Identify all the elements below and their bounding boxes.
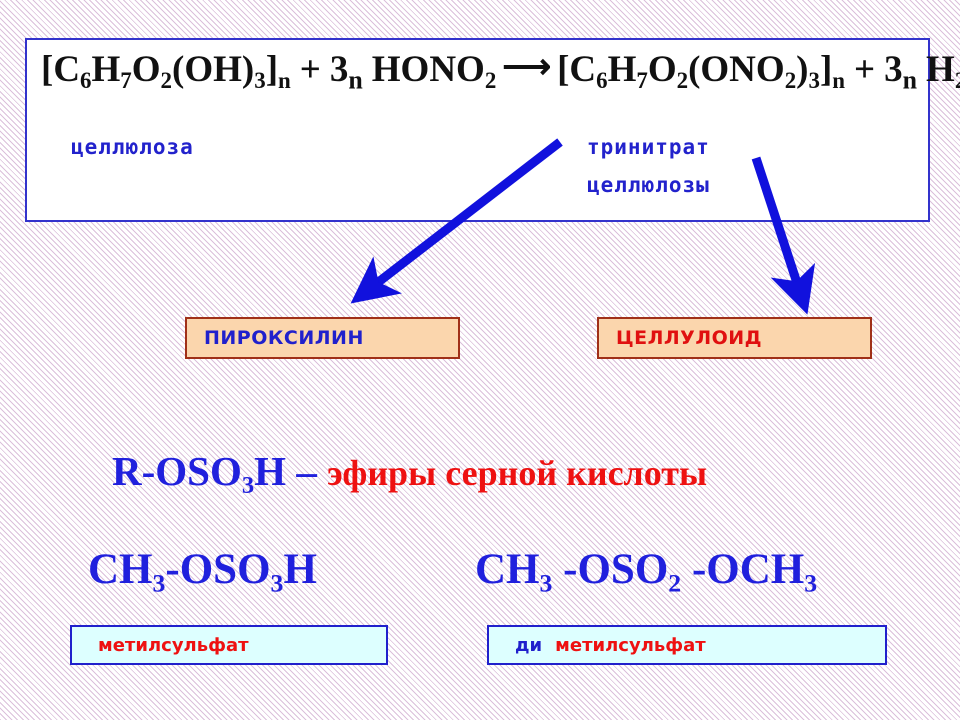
plus-sign-2: + — [854, 49, 875, 90]
product-trinitrate-formula: [C6H7O2(ONO2)3]n — [557, 49, 845, 90]
name-box-methyl-sulfate: метилсульфат — [70, 625, 388, 665]
name-box-dimethyl-sulfate: диметилсульфат — [487, 625, 887, 665]
formula-dimethyl-sulfate: CH3 -OSO2 -OCH3 — [475, 545, 817, 598]
reaction-arrow-icon: ⟶ — [496, 47, 557, 87]
equation-panel: [C6H7O2(OH)3]n+3nHONO2⟶[C6H7O2(ONO2)3]n+… — [25, 38, 930, 222]
formula-methyl-sulfate: CH3-OSO3H — [88, 545, 317, 598]
label-trinitrate-line1: тринитрат — [587, 135, 710, 159]
reactant-cellulose-formula: [C6H7O2(OH)3]n — [41, 49, 291, 90]
reactant-nitric-acid: HONO2 — [372, 49, 497, 90]
name-label-dimethyl-sulfate: диметилсульфат — [489, 635, 706, 656]
label-trinitrate-line2: целлюлозы — [587, 173, 710, 197]
general-formula-structure: R-OSO3H — [112, 448, 286, 494]
general-formula-dash: – — [296, 448, 317, 494]
plus-sign-1: + — [300, 49, 321, 90]
general-formula-line: R-OSO3H – эфиры серной кислоты — [112, 447, 707, 500]
product-box-tselluloid: ЦЕЛЛУЛОИД — [597, 317, 872, 359]
product-label-piroksilin: ПИРОКСИЛИН — [187, 327, 364, 349]
product-water: H2O — [926, 49, 960, 90]
product-label-tselluloid: ЦЕЛЛУЛОИД — [599, 327, 762, 349]
nitration-equation: [C6H7O2(OH)3]n+3nHONO2⟶[C6H7O2(ONO2)3]n+… — [41, 48, 960, 95]
product-coefficient: 3n — [884, 49, 917, 90]
label-cellulose: целлюлоза — [71, 135, 194, 159]
name-label-methyl-sulfate: метилсульфат — [72, 635, 249, 656]
general-formula-description: эфиры серной кислоты — [327, 453, 707, 493]
reactant-coefficient: 3n — [330, 49, 363, 90]
product-box-piroksilin: ПИРОКСИЛИН — [185, 317, 460, 359]
